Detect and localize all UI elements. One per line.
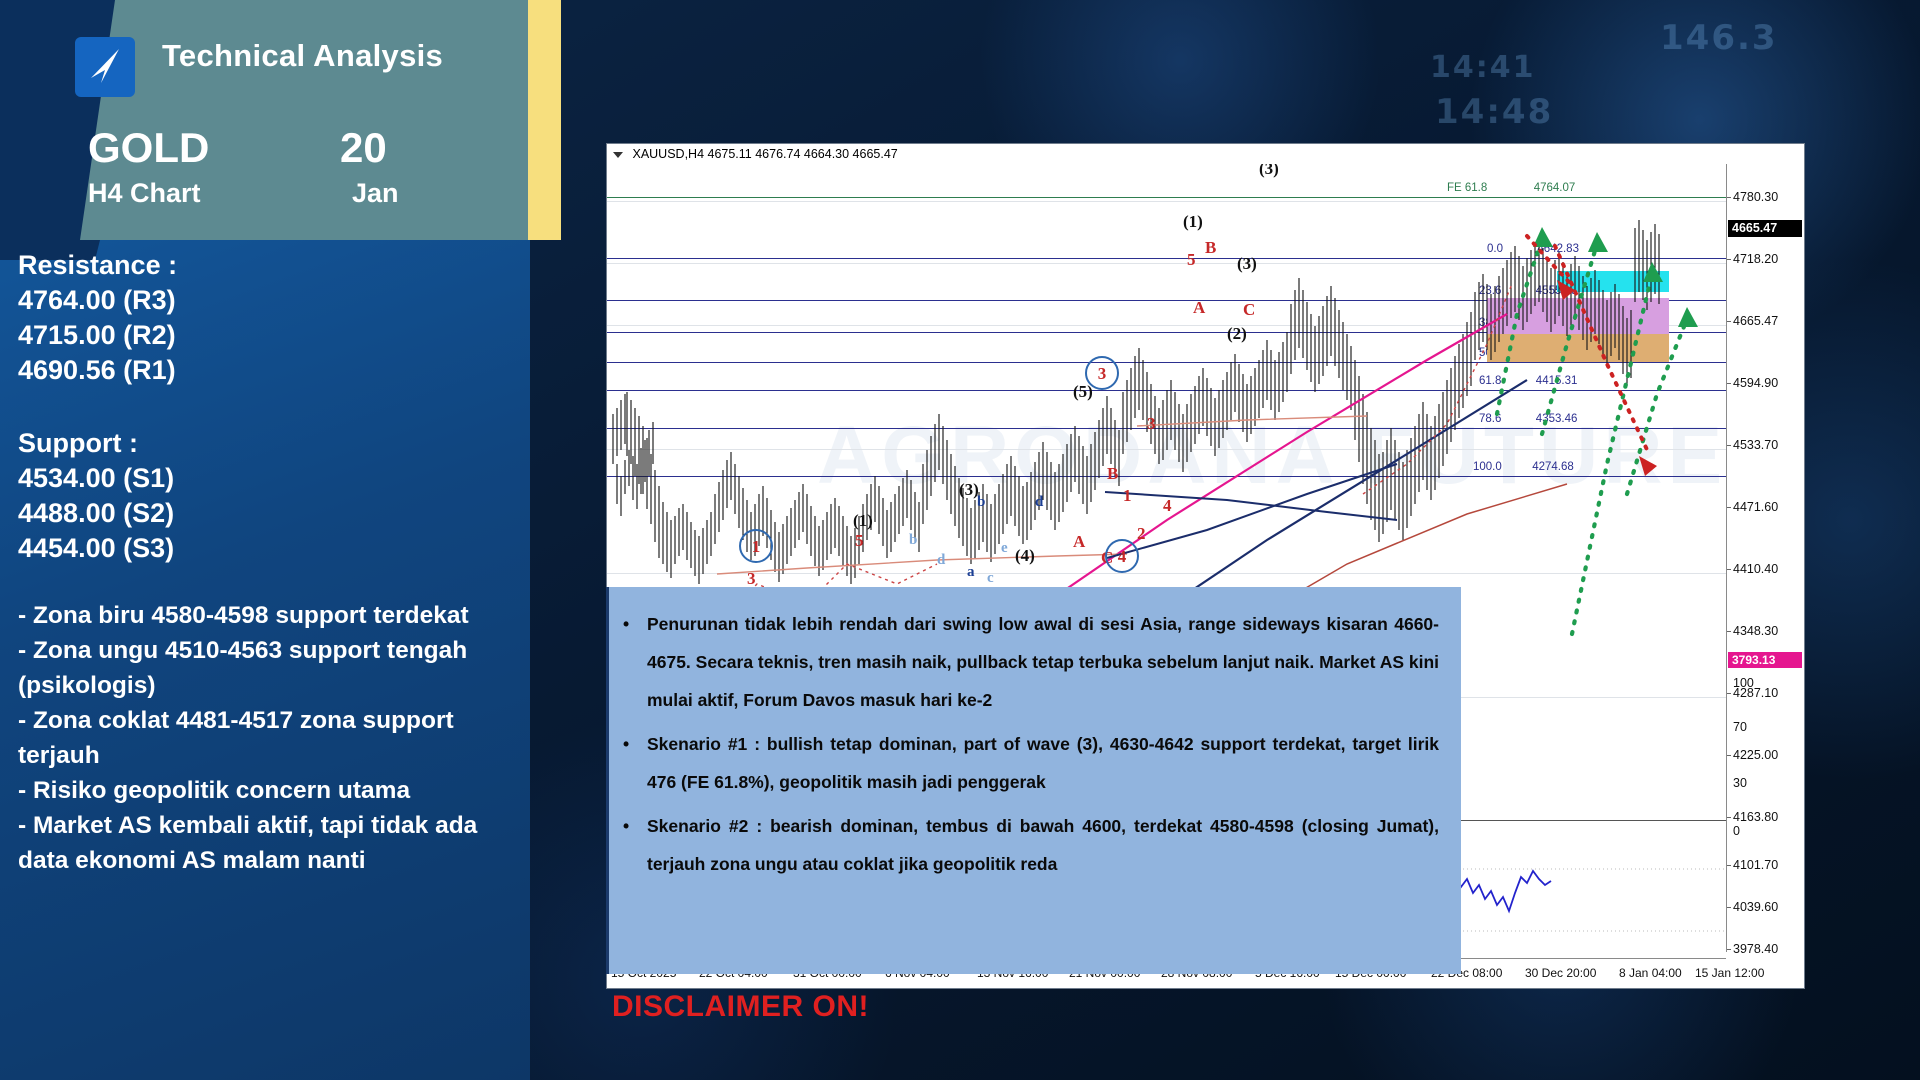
wave-label-b: b (909, 532, 917, 549)
analysis-box: • Penurunan tidak lebih rendah dari swin… (606, 587, 1461, 974)
current-price-badge: 4665.47 (1728, 220, 1802, 237)
wave-label-B2: B (1107, 464, 1118, 484)
wave-label-5b: 5 (1187, 250, 1196, 270)
wave-label-p1b: (1) (1183, 212, 1203, 232)
price-axis[interactable]: 4780.30 4718.20 4665.47 4594.90 4533.70 … (1726, 164, 1804, 952)
rsi-level-70: 70 (1733, 720, 1747, 734)
wave-label-C3: C (1243, 300, 1255, 320)
disclaimer-text: DISCLAIMER ON! (612, 990, 869, 1024)
wave-label-p3c: (3) (1237, 254, 1257, 274)
support-level-s2: 4488.00 (S2) (18, 498, 174, 529)
price-tick: 4039.60 (1733, 900, 1778, 914)
price-tick: 4533.70 (1733, 438, 1778, 452)
wave-label-d: d (937, 552, 945, 569)
resistance-level-r1: 4690.56 (R1) (18, 355, 176, 386)
wave-label-a2: a (967, 564, 975, 581)
price-tick: 4225.00 (1733, 748, 1778, 762)
analysis-bullet-1: Skenario #1 : bullish tetap dominan, par… (647, 725, 1439, 801)
time-tick: 15 Jan 12:00 (1695, 966, 1764, 980)
rsi-level-30: 30 (1733, 776, 1747, 790)
wave-label-A3: A (1193, 298, 1205, 318)
wave-label-p2b: (2) (1227, 324, 1247, 344)
background-number-0: 146.3 (1660, 18, 1778, 58)
wave-label-3b: 3 (1147, 414, 1156, 434)
circled-wave-1: 1 (739, 529, 773, 563)
price-tick: 4410.40 (1733, 562, 1778, 576)
date-month: Jan (352, 178, 399, 209)
arrow-logo-icon (75, 37, 135, 97)
circled-wave-3: 3 (1085, 356, 1119, 390)
resistance-level-r3: 4764.00 (R3) (18, 285, 176, 316)
sidebar-notes: - Zona biru 4580-4598 support terdekat -… (18, 598, 523, 878)
magenta-price-badge: 3793.13 (1728, 652, 1802, 668)
wave-label-A: A (1073, 532, 1085, 552)
price-tick: 4163.80 (1733, 810, 1778, 824)
price-tick: 4665.47 (1733, 314, 1778, 328)
price-tick: 4718.20 (1733, 252, 1778, 266)
wave-label-p3b: (3) (1259, 164, 1279, 179)
header-accent-bar (528, 0, 561, 240)
bullet-glyph: • (623, 605, 633, 719)
wave-label-b2: b (977, 494, 985, 511)
brand-title: Technical Analysis (162, 38, 443, 74)
wave-label-p1: (1) (853, 511, 873, 531)
price-tick: 4348.30 (1733, 624, 1778, 638)
chart-ohlc-title: XAUUSD,H4 4675.11 4676.74 4664.30 4665.4… (632, 147, 897, 161)
background-number-1: 14:41 (1430, 50, 1536, 85)
wave-label-4b: 4 (1163, 496, 1172, 516)
time-tick: 8 Jan 04:00 (1619, 966, 1682, 980)
rsi-level-0: 0 (1733, 824, 1740, 838)
analysis-bullet-list: • Penurunan tidak lebih rendah dari swin… (623, 605, 1439, 883)
wave-label-c: c (987, 570, 994, 587)
background-number-2: 14:48 (1435, 92, 1553, 132)
wave-label-5: 5 (855, 531, 864, 551)
time-tick: 30 Dec 20:00 (1525, 966, 1596, 980)
wave-label-e: e (1001, 540, 1008, 557)
list-item: • Penurunan tidak lebih rendah dari swin… (623, 605, 1439, 719)
bullet-glyph: • (623, 807, 633, 883)
wave-label-p4: (4) (1015, 546, 1035, 566)
symbol-name: GOLD (88, 124, 209, 172)
resistance-heading: Resistance : (18, 250, 177, 281)
list-item: • Skenario #2 : bearish dominan, tembus … (623, 807, 1439, 883)
resistance-level-r2: 4715.00 (R2) (18, 320, 176, 351)
rsi-level-100: 100 (1733, 676, 1754, 690)
symbol-timeframe: H4 Chart (88, 178, 201, 209)
wave-label-3: 3 (747, 569, 756, 589)
list-item: • Skenario #1 : bullish tetap dominan, p… (623, 725, 1439, 801)
support-heading: Support : (18, 428, 138, 459)
price-tick: 3978.40 (1733, 942, 1778, 956)
wave-label-p3: (3) (959, 480, 979, 500)
chevron-down-icon[interactable] (613, 152, 623, 158)
support-level-s1: 4534.00 (S1) (18, 463, 174, 494)
price-tick: 4780.30 (1733, 190, 1778, 204)
bullet-glyph: • (623, 725, 633, 801)
price-tick: 4594.90 (1733, 376, 1778, 390)
date-day: 20 (340, 124, 387, 172)
wave-label-2b: 2 (1137, 524, 1146, 544)
wave-label-1b: 1 (1123, 486, 1132, 506)
analysis-bullet-0: Penurunan tidak lebih rendah dari swing … (647, 605, 1439, 719)
price-tick: 4101.70 (1733, 858, 1778, 872)
analysis-bullet-2: Skenario #2 : bearish dominan, tembus di… (647, 807, 1439, 883)
support-level-s3: 4454.00 (S3) (18, 533, 174, 564)
price-tick: 4471.60 (1733, 500, 1778, 514)
chart-titlebar: XAUUSD,H4 4675.11 4676.74 4664.30 4665.4… (607, 144, 1804, 164)
circled-wave-4: 4 (1105, 539, 1139, 573)
wave-label-B3: B (1205, 238, 1216, 258)
wave-label-d2: d (1035, 494, 1043, 511)
